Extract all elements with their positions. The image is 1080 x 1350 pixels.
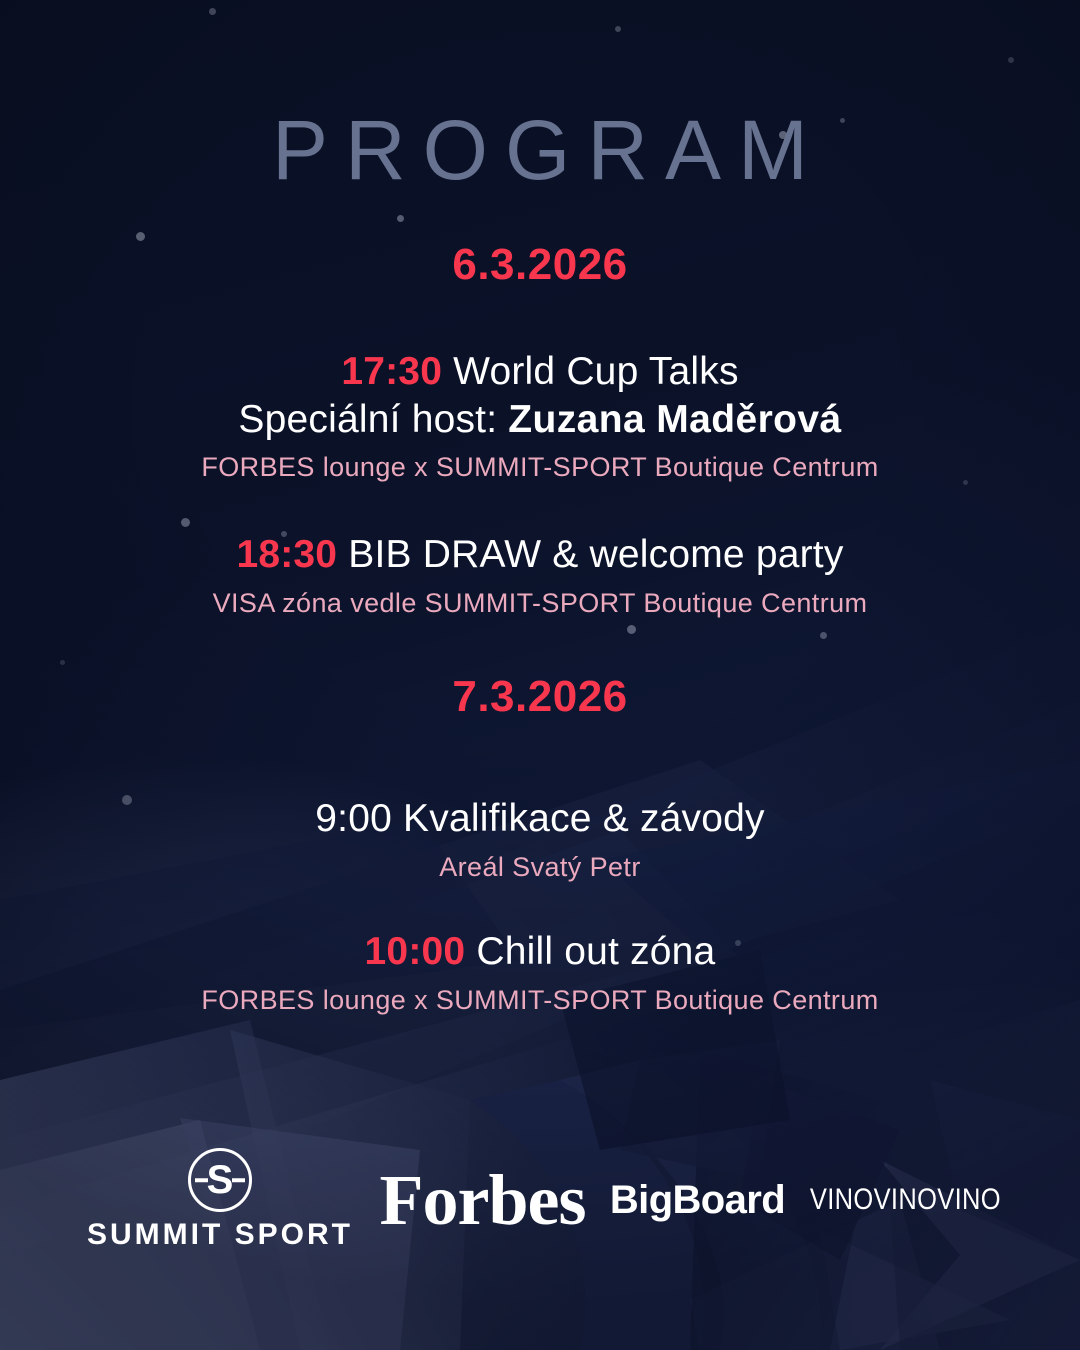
poster-content: PROGRAM 6.3.2026 17:30 World Cup Talks S…: [0, 0, 1080, 1350]
event-guest-name: Zuzana Maděrová: [508, 398, 841, 441]
sponsor-logo-summit-sport: S SUMMIT SPORT: [70, 1148, 370, 1252]
event-title: Kvalifikace & závody: [403, 797, 765, 840]
event-item: 18:30 BIB DRAW & welcome party VISA zóna…: [0, 531, 1080, 621]
sponsor-name-vinovinovino: VINOVINOVINO: [809, 1185, 1000, 1215]
date-heading-day-1: 6.3.2026: [0, 243, 1080, 287]
event-time: 10:00: [365, 930, 466, 973]
event-venue: VISA zóna vedle SUMMIT-SPORT Boutique Ce…: [0, 586, 1080, 621]
sponsor-name-forbes: Forbes: [380, 1164, 586, 1236]
summit-sport-circle-s-icon: S: [188, 1148, 252, 1212]
event-venue: FORBES lounge x SUMMIT-SPORT Boutique Ce…: [0, 450, 1080, 485]
event-item: 10:00 Chill out zóna FORBES lounge x SUM…: [0, 928, 1080, 1018]
event-venue: Areál Svatý Petr: [0, 850, 1080, 885]
sponsor-name-summit-sport: SUMMIT SPORT: [87, 1218, 353, 1252]
event-item: 17:30 World Cup Talks Speciální host: Zu…: [0, 348, 1080, 485]
sponsor-name-bigboard: BigBoard: [610, 1180, 785, 1220]
event-item: 9:00 Kvalifikace & závody Areál Svatý Pe…: [0, 795, 1080, 885]
event-time: 18:30: [236, 533, 337, 576]
event-headline: 17:30 World Cup Talks: [0, 348, 1080, 396]
sponsor-logo-bigboard: BigBoard: [595, 1180, 800, 1220]
event-venue: FORBES lounge x SUMMIT-SPORT Boutique Ce…: [0, 983, 1080, 1018]
event-headline: 18:30 BIB DRAW & welcome party: [0, 531, 1080, 579]
program-poster: PROGRAM 6.3.2026 17:30 World Cup Talks S…: [0, 0, 1080, 1350]
sponsor-logo-strip: S SUMMIT SPORT Forbes BigBoard VINOVINOV…: [0, 1140, 1080, 1260]
event-title: World Cup Talks: [453, 350, 739, 393]
sponsor-logo-vinovinovino: VINOVINOVINO: [800, 1185, 1010, 1215]
event-title: Chill out zóna: [476, 930, 715, 973]
event-subtitle-prefix: Speciální host:: [238, 398, 497, 441]
date-heading-day-2: 7.3.2026: [0, 675, 1080, 719]
event-time: 17:30: [341, 350, 442, 393]
event-time: 9:00: [315, 797, 392, 840]
page-title: PROGRAM: [0, 108, 1080, 192]
sponsor-logo-forbes: Forbes: [370, 1164, 595, 1236]
event-subtitle: Speciální host: Zuzana Maděrová: [0, 396, 1080, 444]
event-headline: 10:00 Chill out zóna: [0, 928, 1080, 976]
event-title: BIB DRAW & welcome party: [348, 533, 843, 576]
event-headline: 9:00 Kvalifikace & závody: [0, 795, 1080, 843]
